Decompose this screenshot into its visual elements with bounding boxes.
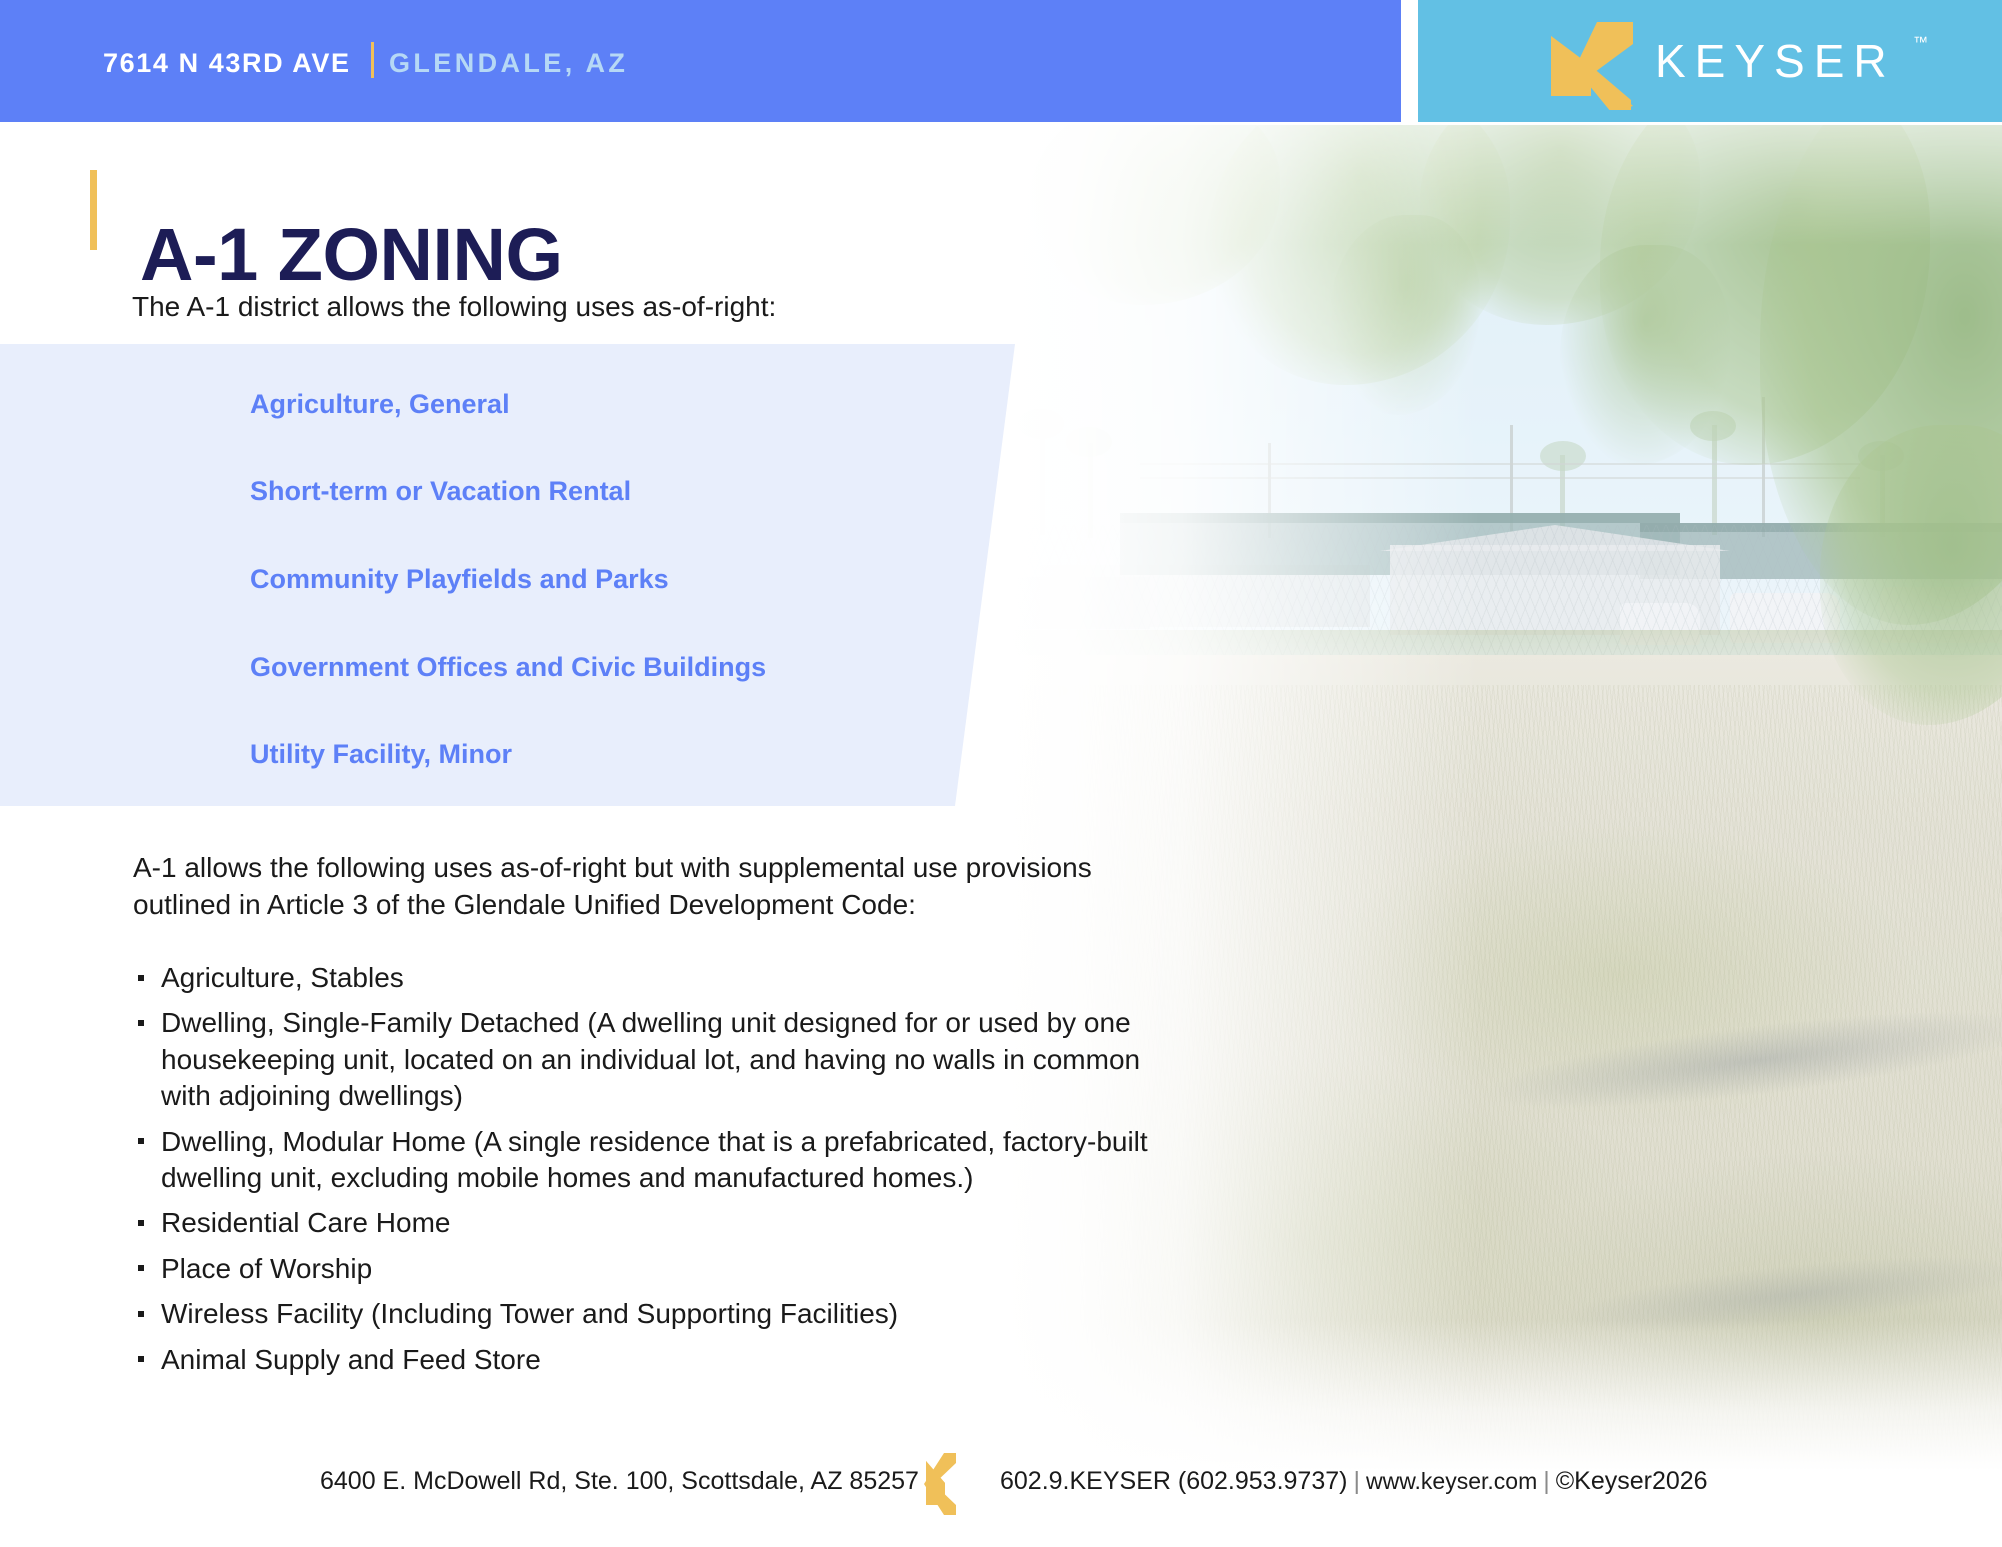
as-of-right-list: Agriculture, General Short-term or Vacat… (0, 344, 1020, 806)
list-item: Residential Care Home (133, 1205, 1193, 1241)
list-item: Dwelling, Single-Family Detached (A dwel… (133, 1005, 1193, 1114)
list-item: Government Offices and Civic Buildings (250, 654, 766, 681)
trademark-symbol: ™ (1913, 34, 1928, 51)
supplemental-uses-list: Agriculture, Stables Dwelling, Single-Fa… (133, 960, 1193, 1387)
list-item-label: Dwelling, Single-Family Detached (A dwel… (161, 1007, 1140, 1111)
bullet-icon (138, 1356, 144, 1362)
list-item: Utility Facility, Minor (250, 741, 512, 768)
bullet-icon (138, 1020, 144, 1026)
header-city: GLENDALE, AZ (389, 50, 628, 77)
intro-text: The A-1 district allows the following us… (132, 289, 776, 324)
footer-divider: | (1347, 1467, 1366, 1495)
footer-copyright: ©Keyser2026 (1556, 1467, 1708, 1495)
bullet-icon (138, 1265, 144, 1271)
keyser-logo: KEYSER ™ (1545, 22, 1965, 104)
footer-keyser-k-icon (908, 1453, 962, 1515)
header-divider (371, 42, 374, 78)
keyser-wordmark: KEYSER (1655, 38, 1896, 84)
title-accent-bar (90, 170, 97, 250)
list-item: Animal Supply and Feed Store (133, 1342, 1193, 1378)
bullet-icon (138, 1311, 144, 1317)
list-item: Wireless Facility (Including Tower and S… (133, 1296, 1193, 1332)
footer-website[interactable]: www.keyser.com (1366, 1468, 1537, 1494)
bullet-icon (138, 1138, 144, 1144)
list-item-label: Agriculture, Stables (161, 962, 404, 993)
footer-contact: 602.9.KEYSER (602.953.9737)|www.keyser.c… (1000, 1469, 1708, 1494)
footer-address: 6400 E. McDowell Rd, Ste. 100, Scottsdal… (320, 1469, 919, 1494)
document-page: 7614 N 43RD AVE GLENDALE, AZ KEYSER ™ A-… (0, 0, 2002, 1547)
footer-phone: 602.9.KEYSER (602.953.9737) (1000, 1467, 1347, 1495)
header-address: 7614 N 43RD AVE (103, 50, 351, 77)
page-footer: 6400 E. McDowell Rd, Ste. 100, Scottsdal… (0, 1455, 2002, 1515)
footer-divider: | (1537, 1467, 1556, 1495)
list-item: Community Playfields and Parks (250, 566, 669, 593)
page-header: 7614 N 43RD AVE GLENDALE, AZ KEYSER ™ (0, 0, 2002, 122)
list-item: Dwelling, Modular Home (A single residen… (133, 1124, 1193, 1197)
list-item: Short-term or Vacation Rental (250, 478, 631, 505)
list-item: Agriculture, Stables (133, 960, 1193, 996)
list-item-label: Wireless Facility (Including Tower and S… (161, 1298, 898, 1329)
list-item-label: Animal Supply and Feed Store (161, 1344, 541, 1375)
bullet-icon (138, 1220, 144, 1226)
list-item: Place of Worship (133, 1251, 1193, 1287)
list-item-label: Dwelling, Modular Home (A single residen… (161, 1126, 1148, 1193)
bullet-icon (138, 975, 144, 981)
supplemental-intro-text: A-1 allows the following uses as-of-righ… (133, 850, 1173, 924)
list-item-label: Place of Worship (161, 1253, 372, 1284)
list-item: Agriculture, General (250, 391, 510, 418)
page-title: A-1 ZONING (140, 218, 563, 292)
keyser-k-icon (1545, 22, 1637, 110)
list-item-label: Residential Care Home (161, 1207, 450, 1238)
